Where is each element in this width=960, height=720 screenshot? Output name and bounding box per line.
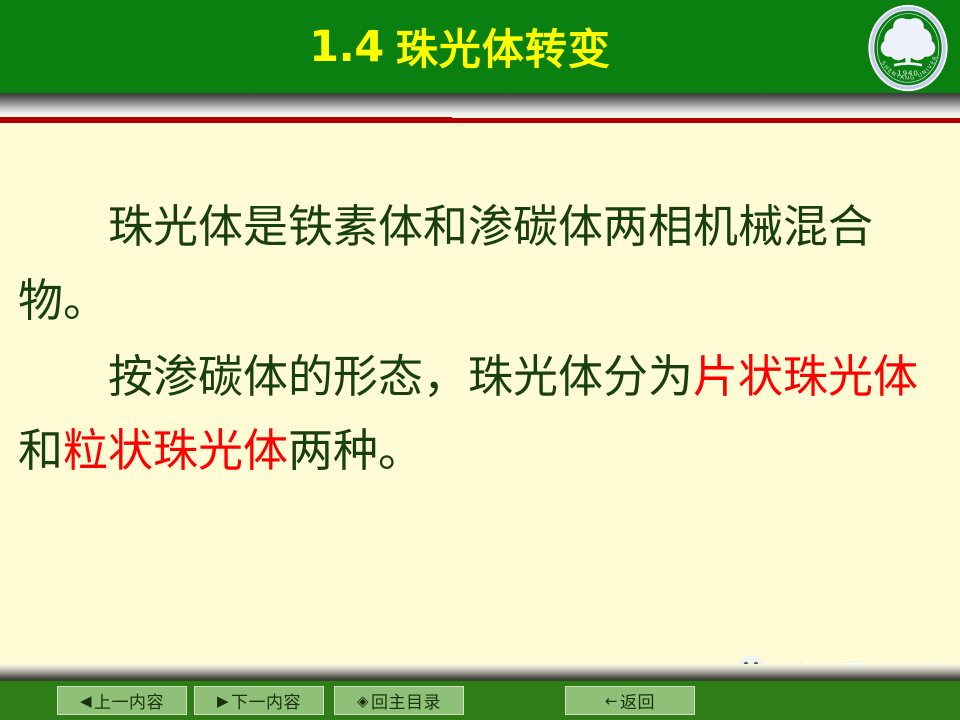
paragraph-2-conjunction: 和 <box>18 424 63 477</box>
paragraph-2-tail: 两种。 <box>288 424 423 477</box>
slide-content: 珠光体是铁素体和渗碳体两相机械混合物。 按渗碳体的形态，珠光体分为片状珠光体和粒… <box>0 190 960 488</box>
title-text: 珠光体转变 <box>396 16 611 77</box>
back-label: 返回 <box>620 688 655 713</box>
next-arrow-icon: ▶ <box>217 692 229 710</box>
prev-arrow-icon: ◀ <box>80 692 92 710</box>
paragraph-classification: 按渗碳体的形态，珠光体分为片状珠光体和粒状珠光体两种。 <box>18 340 936 488</box>
page-title: 1.4 珠光体转变 <box>0 0 960 93</box>
header-red-rule-accent <box>0 117 452 121</box>
prev-content-button[interactable]: ◀ 上一内容 <box>57 686 187 715</box>
highlight-lamellar-pearlite: 片状珠光体 <box>693 350 918 403</box>
main-menu-button[interactable]: ◈ 回主目录 <box>334 686 464 715</box>
prev-content-label: 上一内容 <box>94 688 164 713</box>
highlight-granular-pearlite: 粒状珠光体 <box>63 424 288 477</box>
next-content-button[interactable]: ▶ 下一内容 <box>194 686 324 715</box>
main-menu-label: 回主目录 <box>371 688 441 713</box>
paragraph-2-lead: 按渗碳体的形态，珠光体分为 <box>108 350 693 403</box>
university-seal-logo: · 1940 · SHENYANG UNIVERSITY <box>864 2 952 94</box>
back-arrow-icon: ← <box>605 692 618 710</box>
footer-gradient-divider <box>0 664 960 681</box>
next-content-label: 下一内容 <box>231 688 301 713</box>
navigation-bar: ◀ 上一内容 ▶ 下一内容 ◈ 回主目录 ← 返回 <box>0 681 960 720</box>
diamond-icon: ◈ <box>357 692 369 710</box>
presentation-slide: 1.4 珠光体转变 · 1940 · SHENYANG UNIVERS <box>0 0 960 720</box>
back-button[interactable]: ← 返回 <box>565 686 695 715</box>
paragraph-1-text: 珠光体是铁素体和渗碳体两相机械混合物。 <box>18 200 873 327</box>
header-gradient-divider <box>0 93 960 118</box>
title-number: 1.4 <box>309 22 384 72</box>
paragraph-definition: 珠光体是铁素体和渗碳体两相机械混合物。 <box>18 190 936 338</box>
